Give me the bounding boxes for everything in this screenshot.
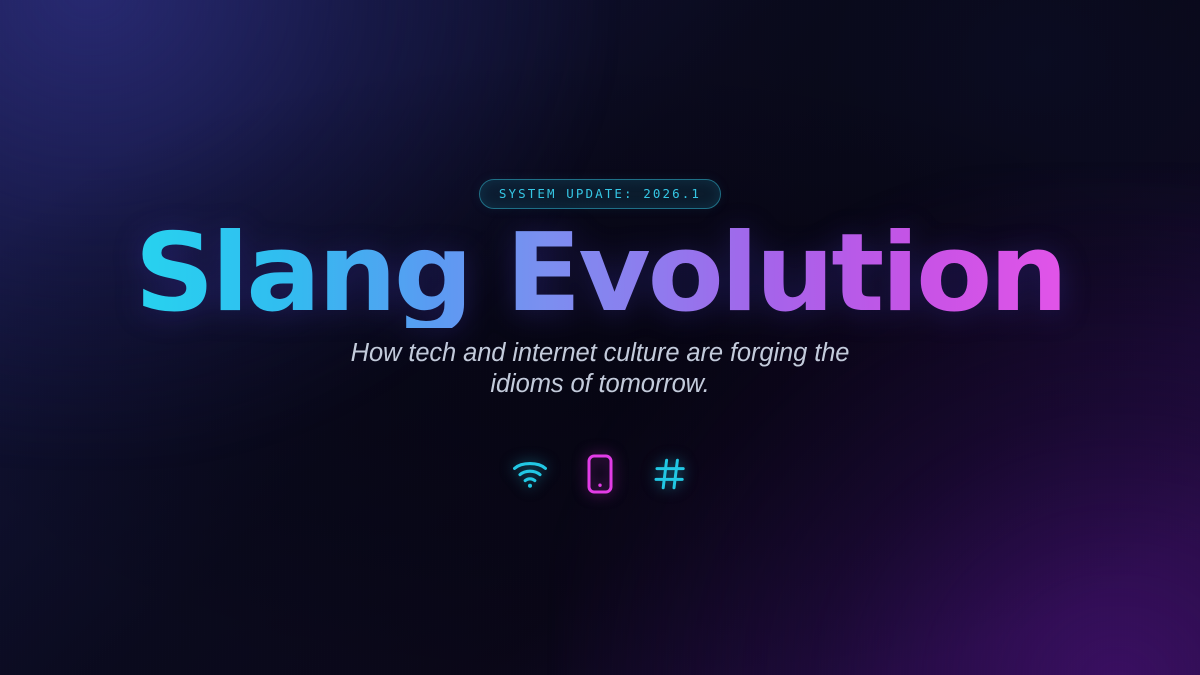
- page-subtitle: How tech and internet culture are forgin…: [320, 338, 880, 400]
- smartphone-icon: [587, 454, 613, 494]
- hero-content: SYSTEM UPDATE: 2026.1 Slang Evolution Ho…: [0, 0, 1200, 675]
- hashtag-icon-slot: [648, 452, 692, 496]
- slide-canvas: SYSTEM UPDATE: 2026.1 Slang Evolution Ho…: [0, 0, 1200, 675]
- hashtag-icon: [652, 456, 688, 492]
- smartphone-icon-slot: [578, 452, 622, 496]
- icon-row: [508, 452, 692, 496]
- status-badge-label: SYSTEM UPDATE: 2026.1: [499, 188, 701, 201]
- status-badge: SYSTEM UPDATE: 2026.1: [479, 179, 721, 209]
- wifi-icon-slot: [508, 452, 552, 496]
- wifi-icon: [512, 459, 548, 489]
- page-title: Slang Evolution: [135, 220, 1066, 328]
